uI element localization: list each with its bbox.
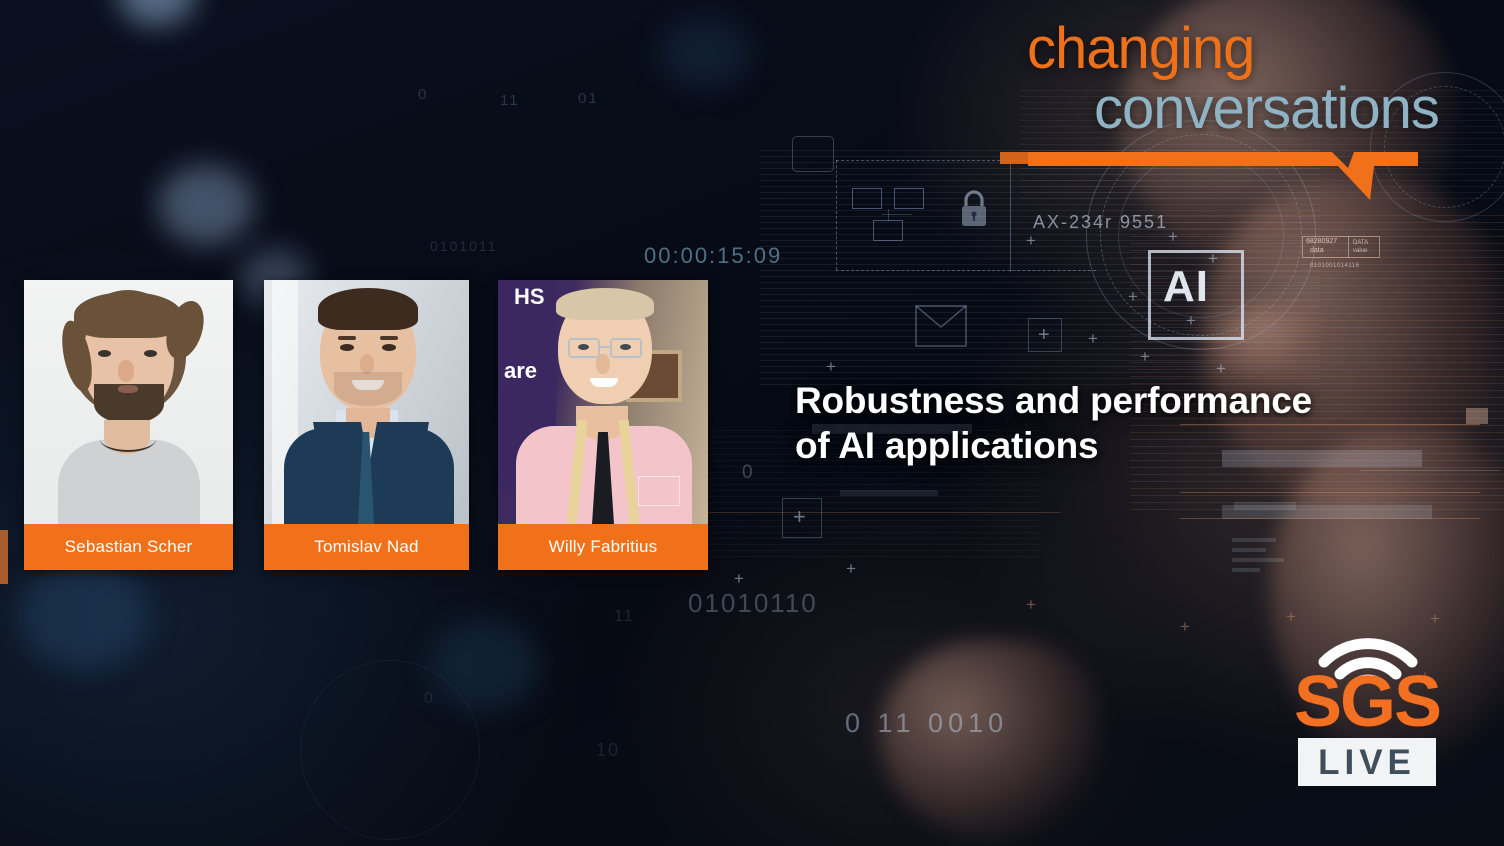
plus-icon: + [793,506,806,528]
hud-bar [1232,548,1266,552]
bg-binary-text: 01 [578,90,599,107]
connector-line [1010,160,1011,272]
plus-icon: + [1026,596,1036,613]
bg-timer-text: 00:00:15:09 [644,243,782,269]
plus-box-icon [1028,318,1062,352]
plus-icon: + [1088,330,1098,347]
hud-bar [1234,502,1296,510]
hud-accent-tick [0,530,8,584]
data-chip-value: 68280927 [1306,238,1337,245]
brand-tag-box: LIVE [1298,738,1436,786]
hud-bar [1232,538,1276,542]
speaker-name: Sebastian Scher [24,524,233,570]
slide-stage: + + + + + + + + + + + + + + + + + + + AI… [0,0,1504,846]
plus-icon: + [1208,250,1218,267]
bg-binary-text: 01010110 [688,588,818,619]
brand-name: SGS [1292,666,1442,738]
hud-bar [1222,505,1432,519]
plus-box-icon [782,498,822,538]
mail-icon [915,305,967,347]
network-link [888,209,889,221]
bg-binary-text: 11 [614,608,635,626]
brand-logo: SGS LIVE [1292,628,1442,796]
plus-icon: + [1038,325,1050,345]
speaker-photo [24,280,233,524]
hud-line [1360,470,1500,471]
data-chip-panel [1302,236,1380,258]
hud-bar [1232,558,1284,562]
plus-icon: + [1128,288,1138,305]
bg-binary-text: 11 [500,92,520,109]
bokeh-light [18,560,148,670]
page-title-line2: of AI applications [795,423,1475,468]
connector-line [836,270,1096,271]
page-title: Robustness and performance of AI applica… [795,378,1475,468]
data-chip-serial: 0101001014116 [1310,263,1359,269]
bokeh-light [660,18,750,88]
network-link [882,214,912,215]
scanline-panel [1130,215,1504,515]
speaker-name: Willy Fabritius [498,524,708,570]
speaker-card[interactable]: Tomislav Nad [264,280,469,570]
program-logo-word1: changing [1027,20,1254,78]
dial-icon [300,660,480,840]
hud-bar [840,490,938,496]
plus-icon: + [1180,618,1190,635]
network-icon [852,188,882,209]
bg-binary-text: 0 [418,86,428,103]
speaker-name: Tomislav Nad [264,524,469,570]
plus-icon: + [846,560,856,577]
hand-illustration [880,640,1100,840]
data-chip-label: DATA [1353,240,1368,246]
plus-icon: + [1026,232,1036,249]
connector-line [836,160,837,270]
plus-icon: + [1168,228,1178,245]
plus-icon: + [734,570,744,587]
plus-icon: + [1430,610,1440,627]
bg-binary-text: 0 [424,690,435,708]
bokeh-light [430,620,540,710]
plus-icon: + [826,358,836,375]
page-title-line1: Robustness and performance [795,378,1475,423]
plus-icon: + [1186,312,1196,329]
speaker-card[interactable]: Sebastian Scher [24,280,233,570]
photo-icon [792,136,834,172]
plus-icon: + [1140,348,1150,365]
hud-line [1180,518,1480,519]
hud-line [1180,492,1480,493]
data-chip-label: data [1310,247,1324,254]
network-icon [894,188,924,209]
speaker-photo [264,280,469,524]
hud-bar [1232,568,1260,572]
bg-binary-text: 10 [596,740,620,761]
network-icon [873,220,903,241]
finger-illustration [1215,300,1335,390]
speaker-card[interactable]: HS are Willy Fabritius [498,280,708,570]
data-chip-divider [1348,236,1349,258]
bg-binary-text: 0 11 0010 [845,708,1008,739]
brand-tag: LIVE [1318,745,1416,780]
bokeh-light [158,165,254,245]
plus-icon: + [1216,360,1226,377]
ai-label: AI [1163,262,1209,312]
bg-binary-text: 0 [742,462,755,484]
lock-icon [956,186,992,232]
data-chip-label: value [1353,248,1367,254]
speech-bubble-rule-icon [1022,138,1492,218]
plus-icon: + [1286,608,1296,625]
program-logo: changing conversations [1022,18,1492,218]
program-logo-word2: conversations [1094,80,1439,138]
ai-frame [1148,250,1244,340]
bg-binary-text: 0101011 [430,238,497,254]
bokeh-light [118,0,196,26]
speaker-photo: HS are [498,280,708,524]
